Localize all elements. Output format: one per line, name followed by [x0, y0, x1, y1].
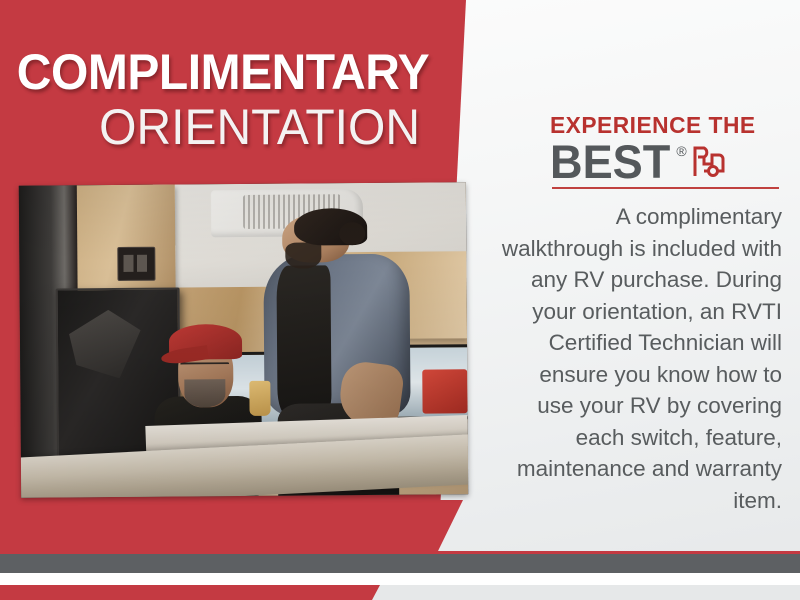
- stripe-white-band: [0, 573, 800, 585]
- logo-wordmark-row: BEST ®: [550, 138, 782, 185]
- red-panel-lower-extension: [0, 500, 480, 551]
- body-copy: A complimentary walkthrough is included …: [500, 201, 782, 516]
- poster-canvas: COMPLIMENTARY ORIENTATION: [0, 0, 800, 600]
- photo-vignette: [19, 182, 468, 498]
- title-line-secondary: ORIENTATION: [17, 99, 420, 155]
- rv-motorhome-icon: [691, 140, 725, 183]
- experience-the-best-logo: EXPERIENCE THE BEST ®: [550, 113, 782, 185]
- page-title: COMPLIMENTARY ORIENTATION: [0, 46, 430, 155]
- stripe-gray-band: [0, 554, 800, 573]
- logo-tagline: EXPERIENCE THE: [550, 113, 780, 137]
- title-line-primary: COMPLIMENTARY: [17, 46, 420, 99]
- logo-divider-rule: [552, 187, 779, 189]
- orientation-photo: [19, 182, 468, 498]
- registered-trademark-icon: ®: [676, 141, 686, 161]
- logo-wordmark: BEST: [550, 138, 670, 185]
- photo-content: [19, 182, 468, 498]
